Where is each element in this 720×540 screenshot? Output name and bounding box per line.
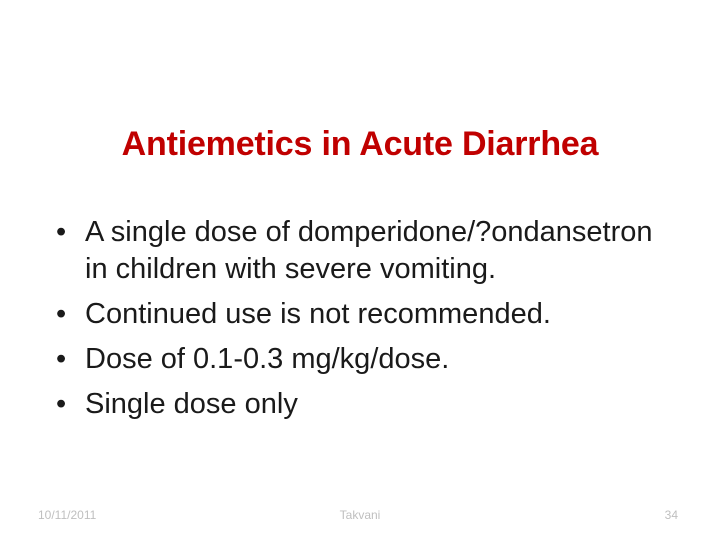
slide-footer: 10/11/2011 Takvani 34 (0, 503, 720, 527)
page-title: Antiemetics in Acute Diarrhea (40, 122, 680, 166)
list-item-text: Dose of 0.1-0.3 mg/kg/dose. (85, 341, 680, 378)
bullet-point-icon: • (56, 296, 66, 333)
list-item: • Continued use is not recommended. (52, 296, 680, 333)
list-item: • A single dose of domperidone/?ondanset… (52, 214, 680, 288)
list-item-text: A single dose of domperidone/?ondansetro… (85, 214, 680, 288)
presentation-slide: Antiemetics in Acute Diarrhea • A single… (0, 0, 720, 540)
bullet-point-icon: • (56, 386, 66, 423)
bullet-list: • A single dose of domperidone/?ondanset… (52, 214, 680, 423)
list-item: • Single dose only (52, 386, 680, 423)
list-item: • Dose of 0.1-0.3 mg/kg/dose. (52, 341, 680, 378)
list-item-text: Single dose only (85, 386, 680, 423)
list-item-text: Continued use is not recommended. (85, 296, 680, 333)
footer-author: Takvani (0, 503, 720, 527)
bullet-point-icon: • (56, 341, 66, 378)
footer-slide-number: 34 (665, 503, 678, 527)
bullet-point-icon: • (56, 214, 66, 251)
